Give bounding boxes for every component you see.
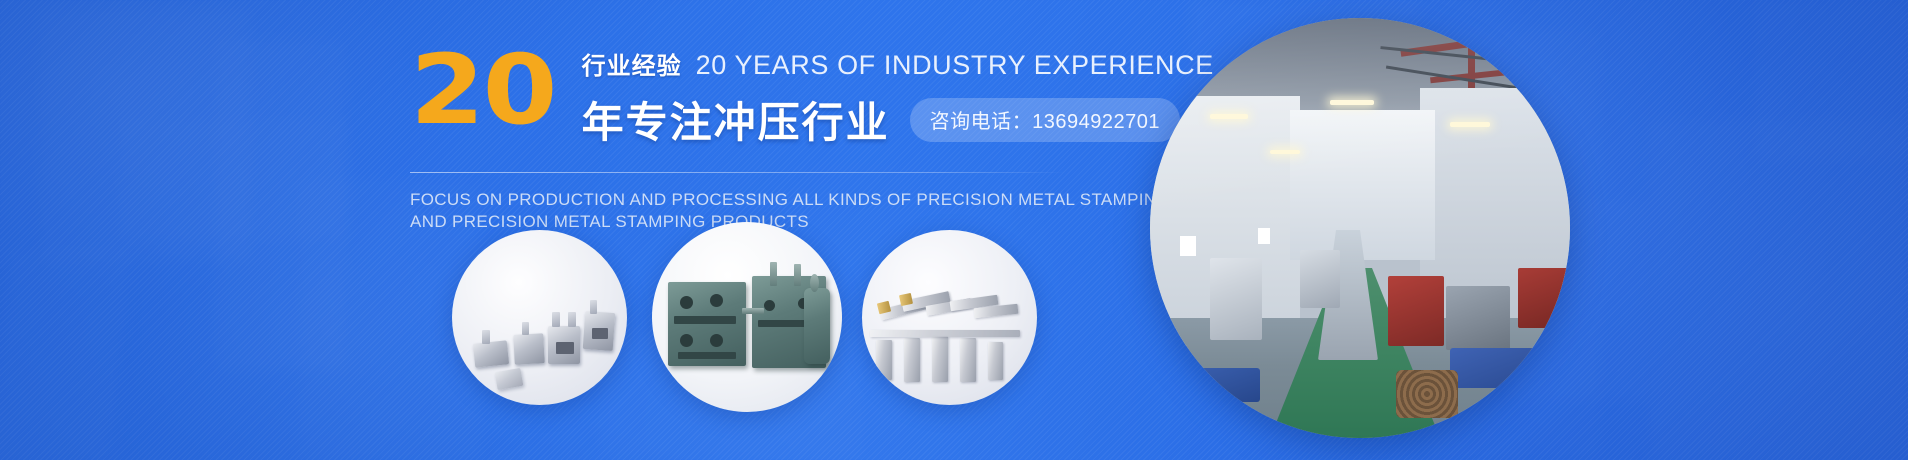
terminal-pin xyxy=(876,340,892,380)
headline-row: 20 行业经验 20 YEARS OF INDUSTRY EXPERIENCE … xyxy=(410,42,1170,150)
terminal-pin xyxy=(932,336,948,382)
headline-line-1: 行业经验 20 YEARS OF INDUSTRY EXPERIENCE xyxy=(582,46,1214,81)
mold-slot xyxy=(678,352,736,359)
mold-pin xyxy=(770,262,777,286)
years-number: 20 xyxy=(410,48,555,132)
mold-block xyxy=(804,288,830,364)
terminal-pin xyxy=(988,342,1003,380)
mold-hole xyxy=(680,334,693,347)
terminal-pin xyxy=(904,338,920,382)
subcopy-line-2: AND PRECISION METAL STAMPING PRODUCTS xyxy=(410,211,1170,233)
connector-tab xyxy=(568,312,576,327)
product-circle-stamping-mold[interactable] xyxy=(652,222,842,412)
headline-cn-large: 年专注冲压行业 xyxy=(582,89,890,150)
mold-pin xyxy=(794,264,801,286)
connector-tab xyxy=(482,330,490,344)
mold-hole xyxy=(710,294,723,307)
mold-hole xyxy=(764,300,775,311)
terminal-pin xyxy=(960,338,976,382)
factory-workshop-photo[interactable] xyxy=(1150,18,1570,438)
headline-block: 20 行业经验 20 YEARS OF INDUSTRY EXPERIENCE … xyxy=(410,42,1170,233)
connector-part xyxy=(513,333,545,365)
mold-pin xyxy=(742,308,764,314)
connector-tab xyxy=(522,322,529,335)
promo-banner: 20 行业经验 20 YEARS OF INDUSTRY EXPERIENCE … xyxy=(0,0,1908,460)
headline-line-2: 年专注冲压行业 咨询电话：13694922701 xyxy=(582,89,1214,150)
headline-en-small: 20 YEARS OF INDUSTRY EXPERIENCE xyxy=(696,50,1214,81)
connector-port xyxy=(556,342,574,354)
connector-tab xyxy=(590,300,597,314)
factory-photo-glare xyxy=(1150,18,1570,438)
mold-pin xyxy=(810,274,819,292)
connector-part xyxy=(473,340,509,367)
mold-hole xyxy=(710,334,723,347)
connector-port xyxy=(592,328,608,339)
terminal-pin-carrier-strip xyxy=(870,330,1020,337)
connector-tab xyxy=(552,312,560,327)
mold-slot xyxy=(674,316,736,324)
headline-cn-small: 行业经验 xyxy=(582,46,682,81)
mold-hole xyxy=(680,296,693,309)
product-circle-connectors[interactable] xyxy=(452,230,627,405)
phone-badge[interactable]: 咨询电话：13694922701 xyxy=(910,98,1180,142)
headline-text-group: 行业经验 20 YEARS OF INDUSTRY EXPERIENCE 年专注… xyxy=(582,42,1214,150)
product-circle-terminal-pins[interactable] xyxy=(862,230,1037,405)
subcopy-line-1: FOCUS ON PRODUCTION AND PROCESSING ALL K… xyxy=(410,189,1170,211)
headline-divider xyxy=(410,172,1065,173)
connector-part xyxy=(495,368,524,390)
